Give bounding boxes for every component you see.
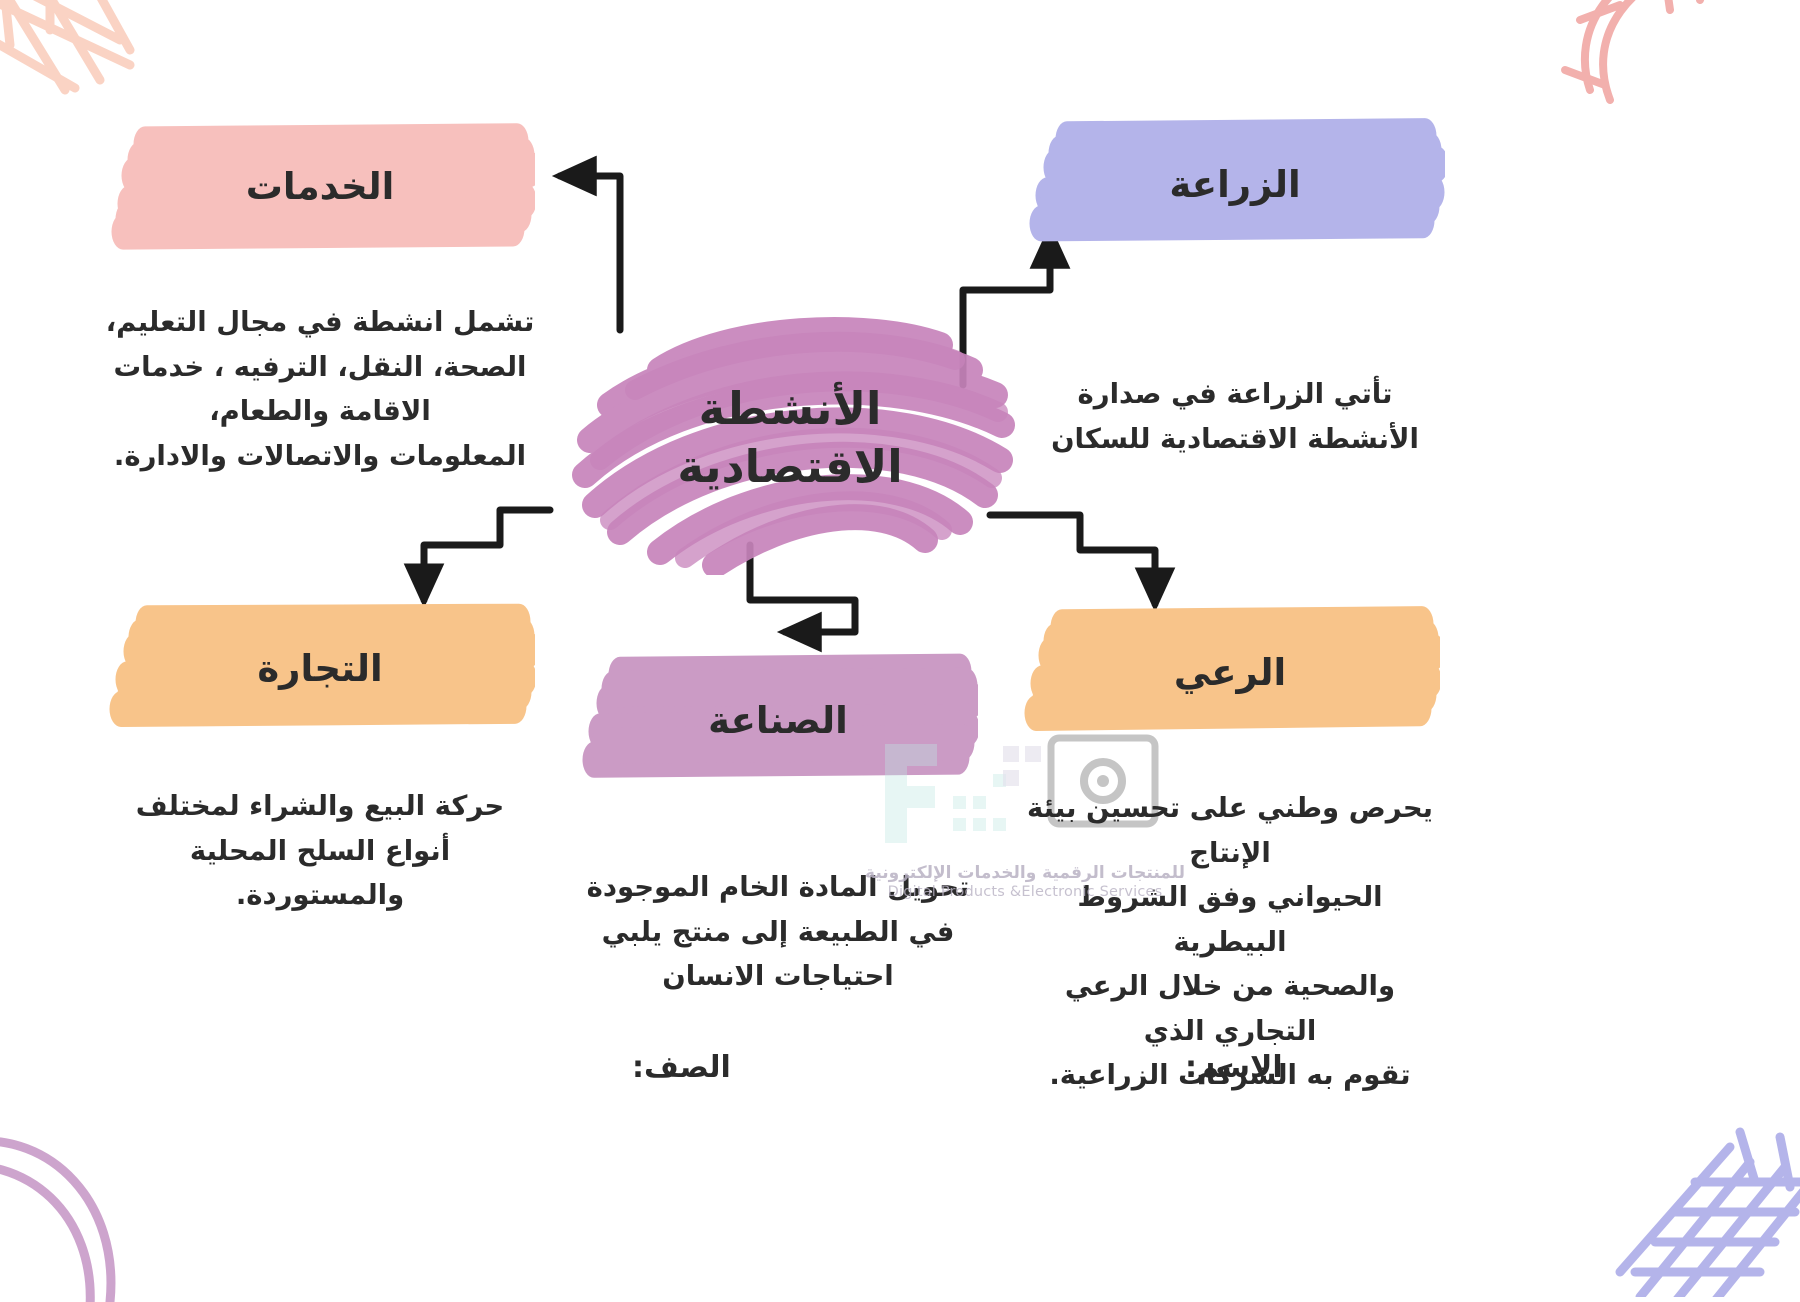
- services-description: تشمل انشطة في مجال التعليم، الصحة، النقل…: [105, 300, 535, 478]
- services-desc-line-2: الصحة، النقل، الترفيه ، خدمات: [105, 345, 535, 390]
- agriculture-title-box[interactable]: الزراعة: [1025, 108, 1445, 264]
- mindmap-canvas: الأنشطة الاقتصادية الخدمات تشمل انشطة في…: [0, 0, 1800, 1272]
- services-desc-line-3: الاقامة والطعام،: [105, 389, 535, 434]
- grazing-desc-line-1: يحرص وطني على تحسين بيئة الإنتاج: [1020, 786, 1440, 875]
- services-label: الخدمات: [246, 168, 395, 205]
- branch-industry: الصناعة تحويل المادة الخام الموجودة في ا…: [578, 645, 978, 999]
- agriculture-label: الزراعة: [1169, 166, 1300, 203]
- center-title-line1: الأنشطة: [699, 380, 882, 438]
- agriculture-desc-line-2: الأنشطة الاقتصادية للسكان: [1025, 417, 1445, 462]
- center-node: الأنشطة الاقتصادية: [540, 300, 1040, 575]
- grazing-label: الرعي: [1174, 654, 1286, 691]
- trade-label: التجارة: [257, 650, 382, 687]
- center-title-line2: الاقتصادية: [677, 438, 902, 496]
- industry-desc-line-1: تحويل المادة الخام الموجودة: [578, 865, 978, 910]
- grazing-desc-line-3: والصحية من خلال الرعي التجاري الذي: [1020, 964, 1440, 1053]
- trade-description: حركة البيع والشراء لمختلف أنواع السلح ال…: [105, 784, 535, 918]
- grazing-title-box[interactable]: الرعي: [1020, 596, 1440, 752]
- industry-desc-line-2: في الطبيعة إلى منتج يلبي: [578, 910, 978, 955]
- branch-services: الخدمات تشمل انشطة في مجال التعليم، الصح…: [105, 110, 535, 478]
- agriculture-desc-line-1: تأتي الزراعة في صدارة: [1025, 372, 1445, 417]
- services-title-box[interactable]: الخدمات: [105, 110, 535, 266]
- footer-name-label: الاسم:: [1185, 1050, 1283, 1085]
- industry-title-box[interactable]: الصناعة: [578, 645, 978, 799]
- center-title: الأنشطة الاقتصادية: [540, 300, 1040, 575]
- branch-grazing: الرعي يحرص وطني على تحسين بيئة الإنتاج ا…: [1020, 596, 1440, 1098]
- branch-trade: التجارة حركة البيع والشراء لمختلف أنواع …: [105, 592, 535, 918]
- branch-agriculture: الزراعة تأتي الزراعة في صدارة الأنشطة ال…: [1025, 108, 1445, 461]
- industry-label: الصناعة: [708, 702, 848, 739]
- industry-desc-line-3: احتياجات الانسان: [578, 954, 978, 999]
- industry-description: تحويل المادة الخام الموجودة في الطبيعة إ…: [578, 865, 978, 999]
- services-desc-line-1: تشمل انشطة في مجال التعليم،: [105, 300, 535, 345]
- agriculture-description: تأتي الزراعة في صدارة الأنشطة الاقتصادية…: [1025, 372, 1445, 461]
- trade-desc-line-2: أنواع السلح المحلية: [105, 829, 535, 874]
- trade-desc-line-3: والمستوردة.: [105, 873, 535, 918]
- trade-title-box[interactable]: التجارة: [105, 592, 535, 748]
- services-desc-line-4: المعلومات والاتصالات والادارة.: [105, 434, 535, 479]
- connector-to-trade: [424, 510, 550, 600]
- grazing-desc-line-2: الحيواني وفق الشروط البيطرية: [1020, 875, 1440, 964]
- trade-desc-line-1: حركة البيع والشراء لمختلف: [105, 784, 535, 829]
- footer-class-label: الصف:: [632, 1050, 731, 1085]
